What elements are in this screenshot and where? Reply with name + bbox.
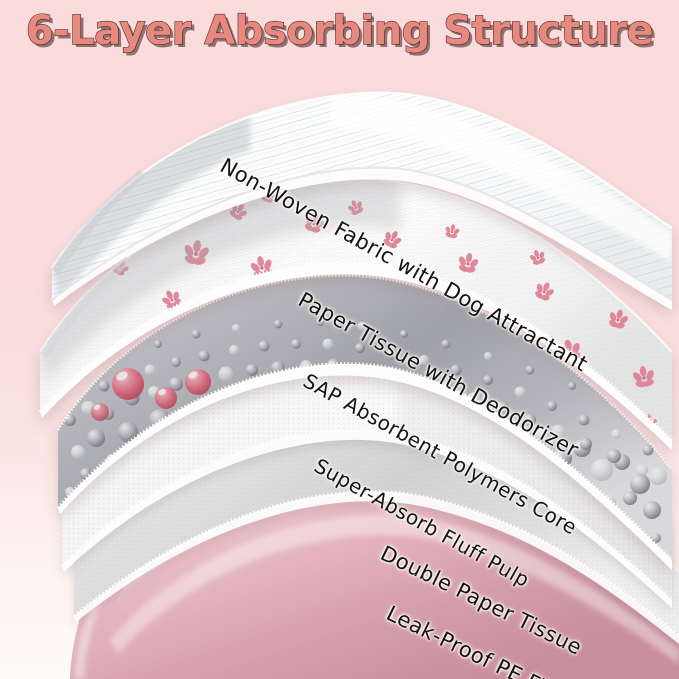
layer-stack-illustration xyxy=(0,0,679,679)
page-title: 6-Layer Absorbing Structure xyxy=(0,8,679,54)
infographic-canvas: 6-Layer Absorbing Structure xyxy=(0,0,679,679)
